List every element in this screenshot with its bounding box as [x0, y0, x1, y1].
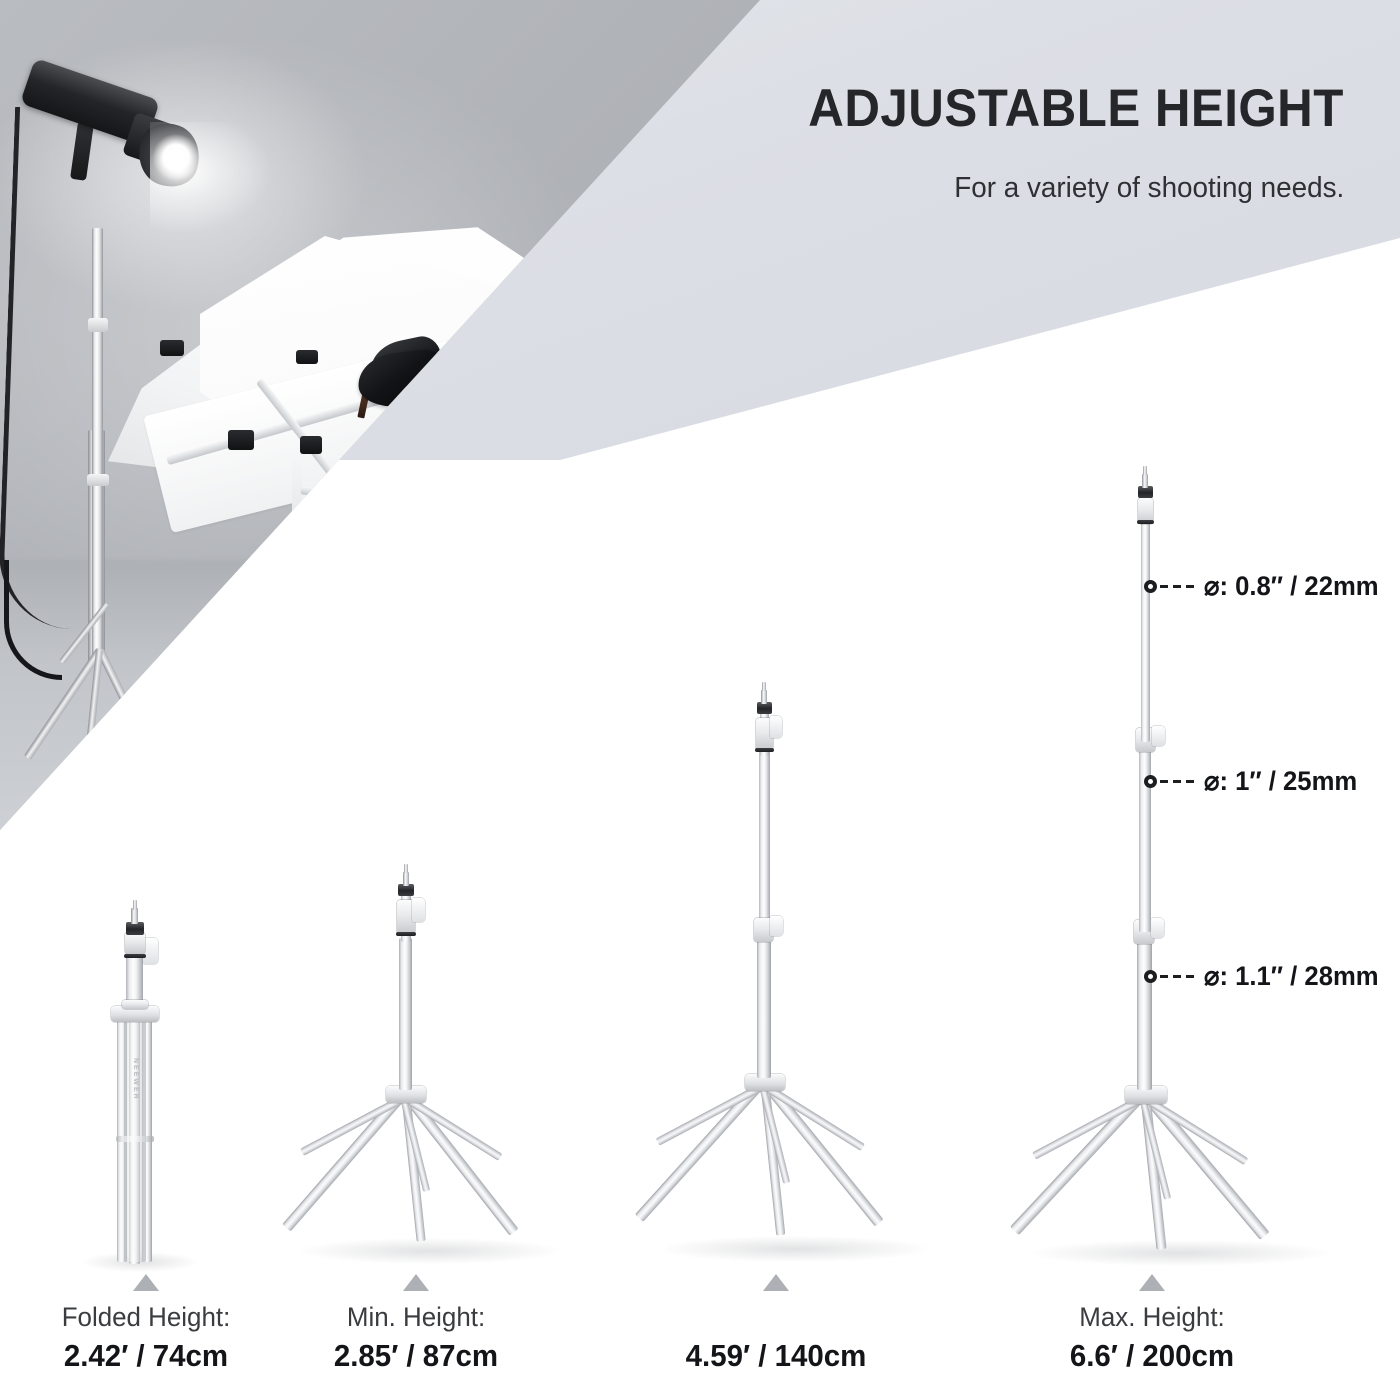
measurement-value: 6.6′ / 200cm — [1029, 1337, 1276, 1375]
stand-max-tube-22mm — [1141, 518, 1150, 742]
table-clamp-6 — [574, 486, 594, 504]
measurement-caption: Min. Height: — [291, 1301, 541, 1334]
callout-dot-icon — [1144, 775, 1157, 788]
stand-min-knob — [412, 898, 425, 922]
table-clamp-7 — [520, 556, 542, 576]
table-clip-top — [160, 340, 184, 356]
stand-min-spigot — [403, 872, 409, 886]
callout-leader-icon — [1160, 975, 1199, 978]
stand-max-knob-upper — [1152, 726, 1165, 746]
callout-diameter-25mm: ⌀: 1″ / 25mm — [1144, 766, 1365, 797]
measurement-caption: Max. Height: — [1027, 1301, 1277, 1334]
stand-min-lower-tube — [399, 938, 412, 1090]
stand-max-ring — [1137, 520, 1154, 524]
measurement-mid: 4.59′ / 140cm — [646, 1274, 906, 1375]
page-title: ADJUSTABLE HEIGHT — [808, 78, 1344, 139]
callout-dot-icon — [1144, 580, 1157, 593]
table-clip-top-2 — [296, 350, 318, 364]
measurement-folded: Folded Height: 2.42′ / 74cm — [16, 1274, 276, 1375]
callout-leader-icon — [1160, 780, 1199, 783]
callout-label: ⌀: 1.1″ / 28mm — [1204, 961, 1379, 992]
callout-label: ⌀: 1″ / 25mm — [1204, 766, 1357, 797]
stand-folded-collar — [122, 1000, 148, 1009]
stand-folded-upper-collar — [125, 932, 145, 954]
page-subtitle: For a variety of shooting needs. — [954, 172, 1344, 205]
measurement-value: 4.59′ / 140cm — [653, 1337, 900, 1375]
pointer-triangle-icon — [403, 1274, 429, 1291]
stand-max-shadow — [1030, 1240, 1330, 1266]
stand-mid-spigot — [761, 690, 767, 704]
table-clamp-1 — [228, 430, 254, 450]
measurement-max: Max. Height: 6.6′ / 200cm — [1022, 1274, 1282, 1375]
table-leg-right — [556, 452, 566, 602]
stand-mid-ring — [755, 748, 774, 752]
stand-mid-shadow — [660, 1236, 930, 1262]
table-clamp-8 — [636, 504, 662, 522]
stand-max-tube-28mm — [1137, 930, 1152, 1090]
callout-leader-icon — [1160, 585, 1199, 588]
callout-dot-icon — [1144, 970, 1157, 983]
brand-label: NEEWER — [132, 1058, 139, 1101]
stand-min-shadow — [300, 1238, 560, 1264]
table-leg-left — [292, 452, 302, 668]
stand-mid-mid-tube — [759, 748, 770, 934]
stand-folded-band — [116, 1136, 154, 1142]
photo-stand-upper-tube — [92, 228, 103, 658]
callout-diameter-28mm: ⌀: 1.1″ / 28mm — [1144, 961, 1388, 992]
stand-folded-ring — [124, 954, 146, 958]
stand-mid-knob-lower — [770, 916, 783, 936]
callout-label: ⌀: 0.8″ / 22mm — [1204, 571, 1379, 602]
infographic-canvas: ADJUSTABLE HEIGHT For a variety of shoot… — [0, 0, 1400, 1400]
callout-diameter-22mm: ⌀: 0.8″ / 22mm — [1144, 571, 1388, 602]
table-clamp-4 — [368, 548, 390, 568]
table-clamp-3 — [296, 630, 316, 656]
measurement-min: Min. Height: 2.85′ / 87cm — [286, 1274, 546, 1375]
stand-max-stud — [1143, 466, 1147, 475]
table-clamp-5 — [540, 466, 564, 486]
pointer-triangle-icon — [133, 1274, 159, 1291]
stand-min-ring — [396, 932, 416, 936]
pointer-triangle-icon — [1139, 1274, 1165, 1291]
stand-mid-knob-upper — [770, 716, 782, 738]
measurement-caption — [651, 1301, 901, 1334]
photo-stand-knob-2 — [87, 474, 109, 486]
stand-max-spigot — [1142, 474, 1148, 488]
stand-folded-knob — [143, 938, 158, 964]
stand-folded-stud — [133, 900, 137, 910]
stand-mid-lower-tube — [757, 928, 771, 1078]
stand-folded-spigot — [131, 908, 138, 924]
table-crossbar-lower — [300, 559, 570, 581]
table-crossbar-upper — [300, 486, 559, 521]
table-clamp-2 — [300, 436, 322, 454]
stand-mid-stud — [762, 682, 766, 691]
pointer-triangle-icon — [763, 1274, 789, 1291]
measurement-caption: Folded Height: — [21, 1301, 271, 1334]
photo-stand-knob-1 — [88, 318, 108, 332]
stand-max-knob-lower — [1151, 918, 1164, 938]
measurement-value: 2.85′ / 87cm — [293, 1337, 540, 1375]
measurement-value: 2.42′ / 74cm — [23, 1337, 270, 1375]
stand-min-stud — [404, 864, 408, 873]
